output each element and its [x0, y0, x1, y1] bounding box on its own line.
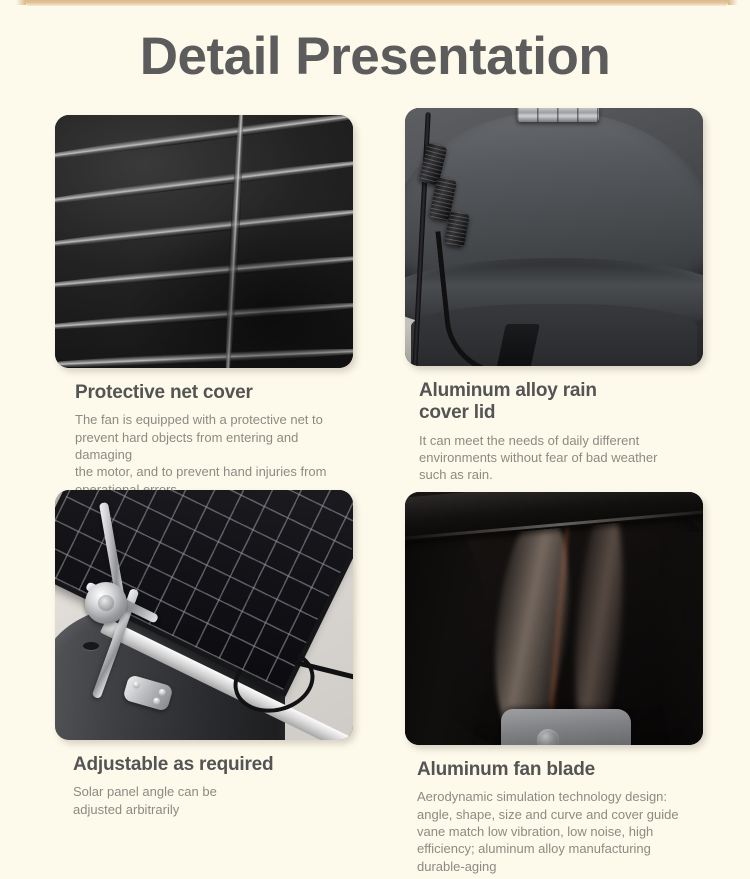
mounting-screw [152, 697, 161, 706]
card-description: It can meet the needs of daily different… [419, 432, 685, 484]
protective-net-cover-photo [55, 115, 353, 368]
card-title: Adjustable as required [73, 754, 335, 776]
card-title: Protective net cover [75, 382, 335, 404]
aluminum-alloy-rain-cover-lid-photo [405, 108, 703, 366]
housing-vent-hole [83, 642, 99, 650]
fan-blade-hub [501, 709, 631, 745]
card-title: Aluminum fan blade [417, 759, 685, 781]
card-text-block: Protective net cover The fan is equipped… [55, 368, 353, 498]
detail-card-adjustable-as-required: Adjustable as required Solar panel angle… [55, 490, 353, 818]
card-text-block: Adjustable as required Solar panel angle… [55, 740, 353, 818]
card-text-block: Aluminum alloy rain cover lid It can mee… [405, 366, 703, 484]
aluminum-fan-blade-photo [405, 492, 703, 745]
net-shadow-overlay [55, 115, 353, 368]
card-title: Aluminum alloy rain cover lid [419, 380, 685, 425]
detail-cards-grid: Protective net cover The fan is equipped… [0, 0, 750, 879]
blade-right-shadow [659, 532, 703, 745]
mounting-screw [158, 688, 167, 697]
card-text-block: Aluminum fan blade Aerodynamic simulatio… [405, 745, 703, 875]
card-description: Aerodynamic simulation technology design… [417, 788, 685, 874]
detail-card-aluminum-fan-blade: Aluminum fan blade Aerodynamic simulatio… [405, 492, 703, 875]
adjustable-solar-panel-bracket-photo [55, 490, 353, 740]
card-description: The fan is equipped with a protective ne… [75, 411, 335, 497]
detail-card-protective-net-cover: Protective net cover The fan is equipped… [55, 115, 353, 498]
hub-bolt [537, 729, 559, 745]
detail-card-aluminum-alloy-rain-cover-lid: Aluminum alloy rain cover lid It can mee… [405, 108, 703, 484]
bracket-pivot-hub [85, 582, 127, 624]
card-description: Solar panel angle can be adjusted arbitr… [73, 783, 335, 818]
metal-hinge [517, 108, 599, 122]
mounting-screw [132, 681, 141, 690]
